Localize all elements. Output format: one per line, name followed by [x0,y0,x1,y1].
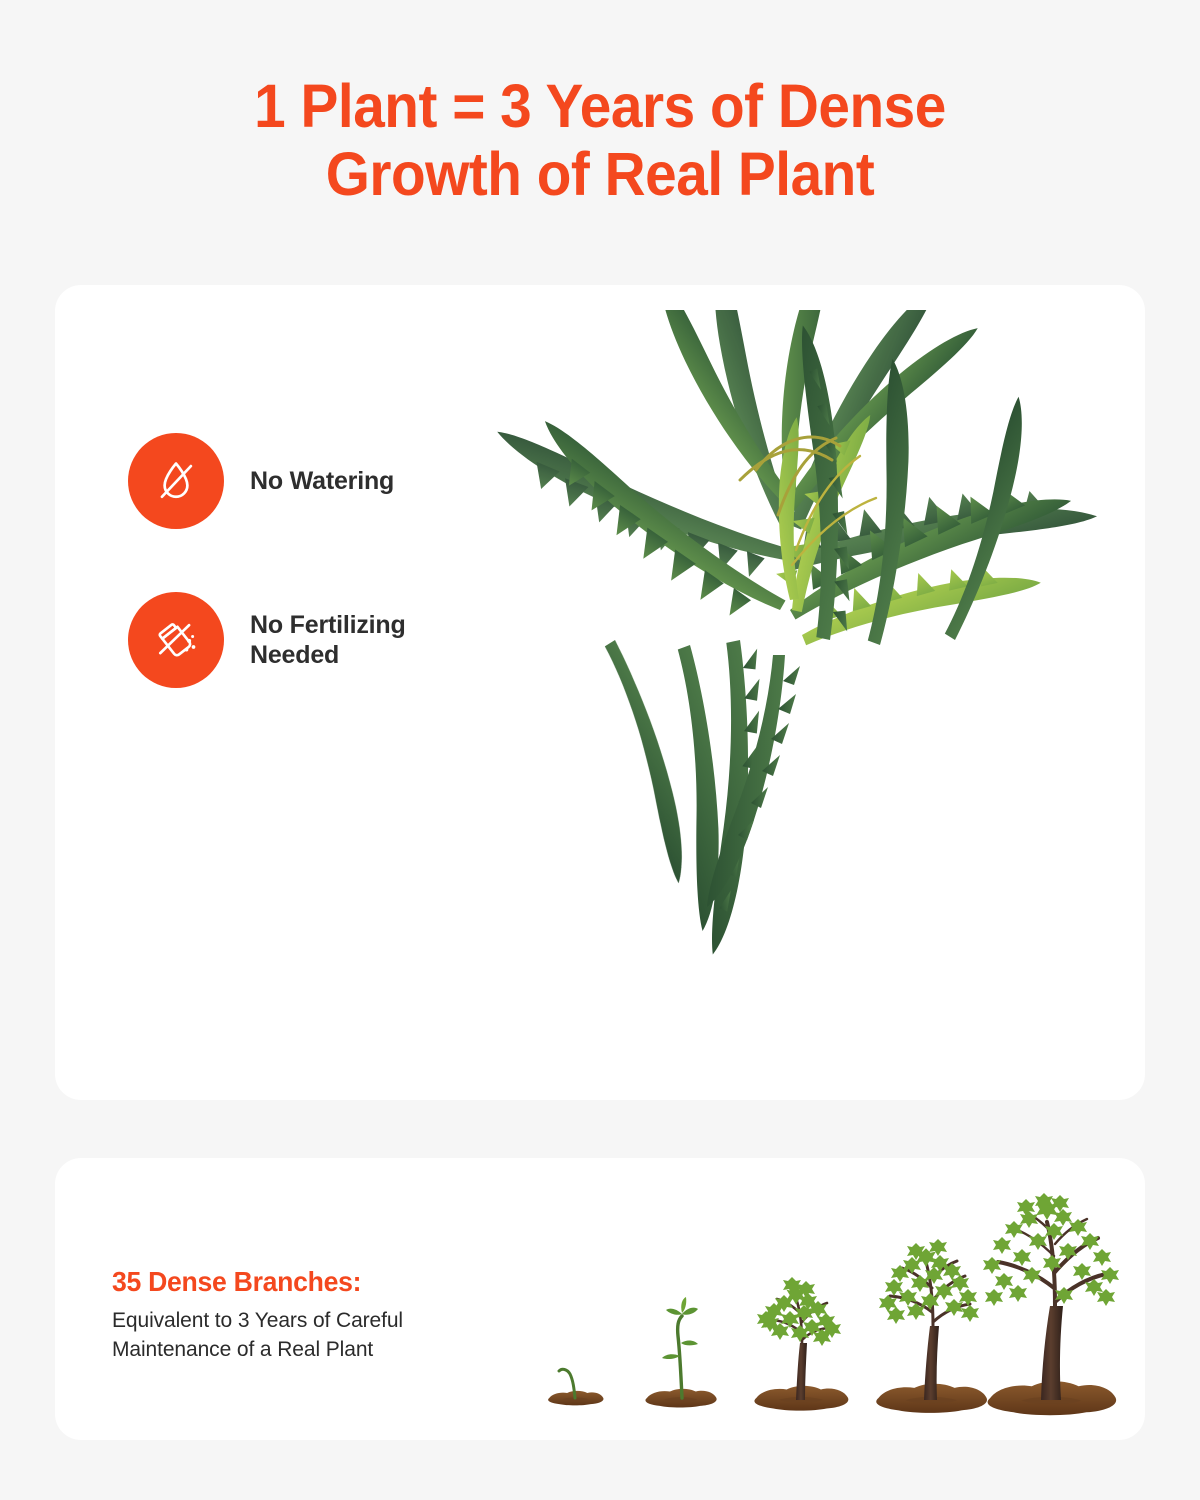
feature-no-fertilizing-label: No Fertilizing Needed [250,610,406,671]
growth-title: 35 Dense Branches: [112,1266,511,1298]
growth-card: 35 Dense Branches: Equivalent to 3 Years… [55,1158,1145,1440]
growth-subtitle-line-1: Equivalent to 3 Years of Careful [112,1307,532,1336]
growth-subtitle-line-2: Maintenance of a Real Plant [112,1336,532,1365]
feature-label-text-2: Needed [250,641,339,669]
feature-no-watering: No Watering [128,433,488,529]
growth-stages-illustration [520,1176,1120,1426]
no-water-droplet-icon [128,433,224,529]
hero-card: No Watering [55,285,1145,1100]
infographic-page: 1 Plant = 3 Years of Dense Growth of Rea… [0,0,1200,1500]
page-title-line-1: 1 Plant = 3 Years of Dense [42,72,1158,140]
fern-plant-image [440,310,1130,1030]
feature-no-watering-label: No Watering [250,466,394,497]
growth-subtitle: Equivalent to 3 Years of Careful Mainten… [112,1307,532,1364]
feature-label-text: No Fertilizing [250,611,406,639]
feature-no-fertilizing: No Fertilizing Needed [128,592,488,688]
page-title-line-2: Growth of Real Plant [42,140,1158,208]
feature-label-text: No Watering [250,467,394,495]
page-title: 1 Plant = 3 Years of Dense Growth of Rea… [42,72,1158,209]
feature-list: No Watering [128,433,488,751]
growth-text-block: 35 Dense Branches: Equivalent to 3 Years… [112,1266,532,1364]
no-fertilizer-bag-icon [128,592,224,688]
